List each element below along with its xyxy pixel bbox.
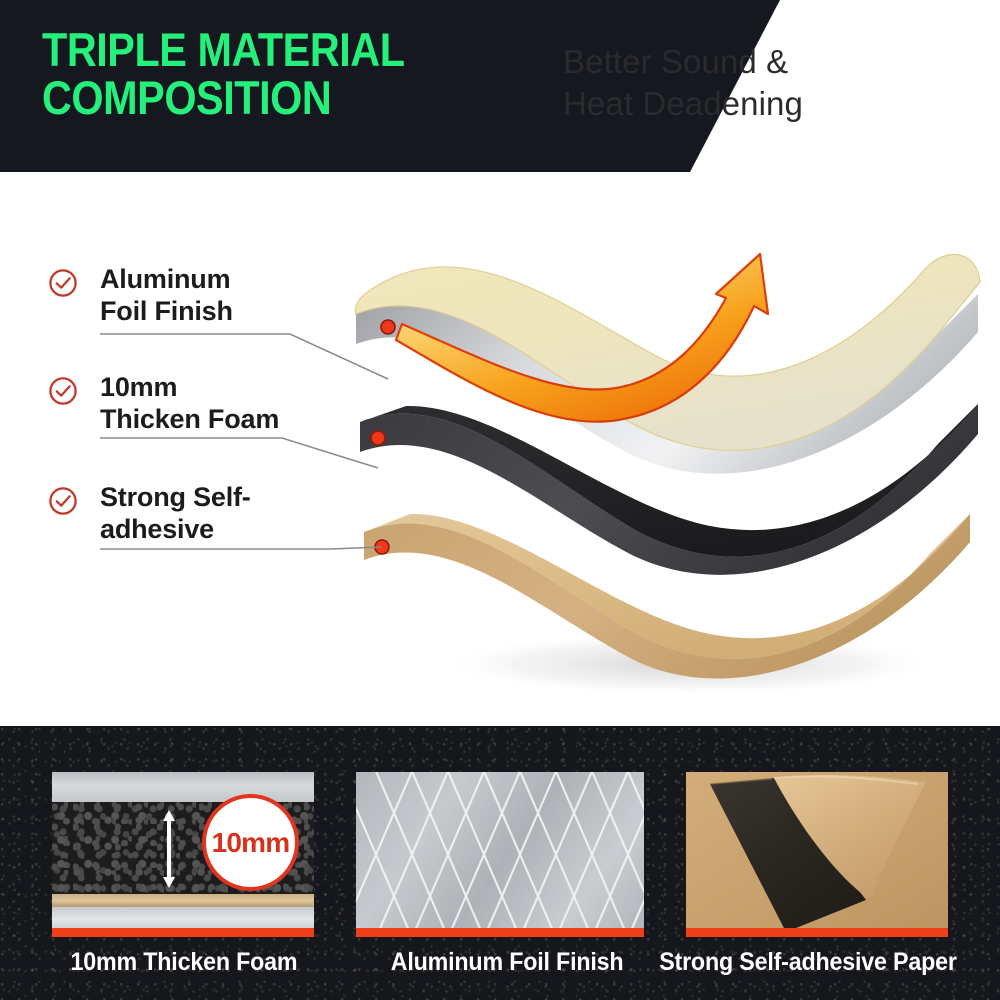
foil-lattice-pattern <box>356 772 644 937</box>
header: TRIPLE MATERIAL COMPOSITION Better Sound… <box>0 0 1000 172</box>
thickness-arrow-icon <box>162 808 176 890</box>
foam-photo-adhesive-band <box>52 894 314 907</box>
header-subtitle: Better Sound & Heat Deadening <box>563 41 963 125</box>
check-circle-icon <box>48 268 78 298</box>
feature-label: Aluminum Foil Finish <box>100 264 360 328</box>
marker-dot-adhesive <box>375 540 389 554</box>
main-diagram-section: Aluminum Foil Finish 10mm Thicken Foam S… <box>0 172 1000 726</box>
adhesive-peel-illustration <box>686 772 948 937</box>
infographic-page: TRIPLE MATERIAL COMPOSITION Better Sound… <box>0 0 1000 1000</box>
thickness-badge: 10mm <box>202 794 299 891</box>
foam-photo-backing-band <box>52 907 314 928</box>
photo-panel-adhesive[interactable] <box>686 772 948 937</box>
aluminum-foil-photo <box>356 772 644 937</box>
marker-dot-foam <box>371 431 385 445</box>
panel-underline <box>52 928 314 937</box>
panel-caption-adhesive: Strong Self-adhesive Paper <box>659 948 957 977</box>
marker-dot-foil <box>381 320 395 334</box>
product-photo-strip: 10mm 10mm Thicken Foam <box>0 726 1000 1000</box>
check-circle-icon <box>48 486 78 516</box>
foam-cross-section-photo: 10mm <box>52 772 314 937</box>
foam-photo-foil-band <box>52 772 314 802</box>
panel-caption-foam: 10mm Thicken Foam <box>71 948 298 977</box>
panel-underline <box>356 928 644 937</box>
check-circle-icon <box>48 376 78 406</box>
self-adhesive-paper-photo <box>686 772 948 937</box>
feature-label: Strong Self- adhesive <box>100 482 360 546</box>
page-title: TRIPLE MATERIAL COMPOSITION <box>42 26 588 123</box>
photo-panel-foil[interactable] <box>356 772 644 937</box>
layered-material-diagram <box>330 182 1000 702</box>
feature-label: 10mm Thicken Foam <box>100 372 360 436</box>
photo-panel-foam[interactable]: 10mm <box>52 772 314 937</box>
panel-underline <box>686 928 948 937</box>
panel-caption-foil: Aluminum Foil Finish <box>391 948 624 977</box>
